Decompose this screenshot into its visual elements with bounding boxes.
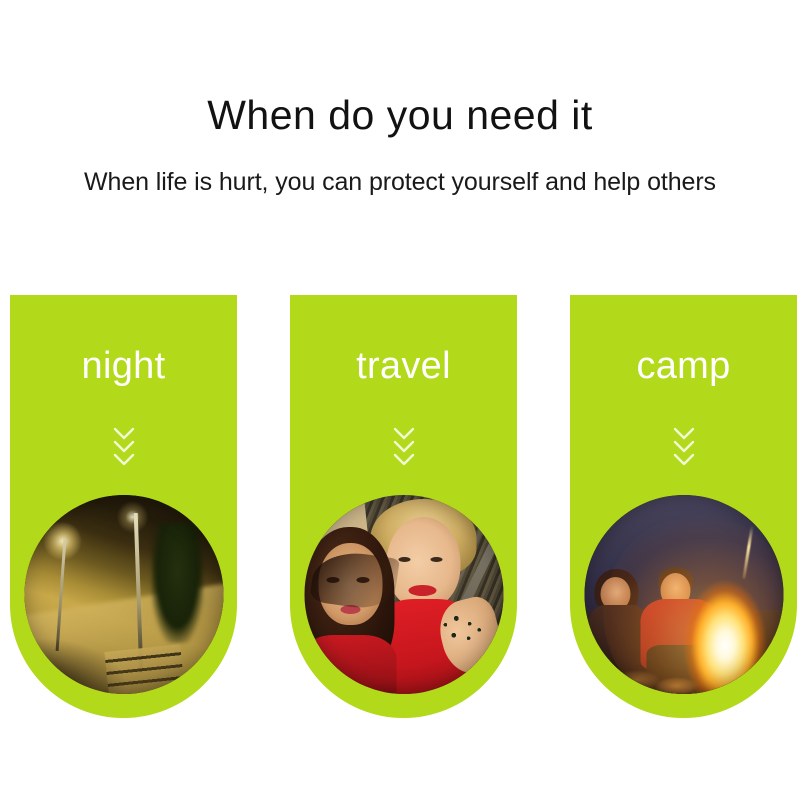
card-label-camp: camp [570,347,797,385]
use-case-card-camp[interactable]: camp [570,295,797,718]
use-case-cards: night [10,295,792,720]
chevron-down-triple-icon [570,423,797,469]
card-photo-night [24,495,223,694]
card-label-night: night [10,347,237,385]
chevron-down-triple-icon [290,423,517,469]
use-case-card-travel[interactable]: travel [290,295,517,718]
card-photo-travel [304,495,503,694]
use-case-card-night[interactable]: night [10,295,237,718]
chevron-down-triple-icon [10,423,237,469]
card-photo-camp [584,495,783,694]
page-title: When do you need it [0,92,800,139]
page-subtitle: When life is hurt, you can protect yours… [0,168,800,197]
promo-page: When do you need it When life is hurt, y… [0,0,800,800]
card-label-travel: travel [290,347,517,385]
